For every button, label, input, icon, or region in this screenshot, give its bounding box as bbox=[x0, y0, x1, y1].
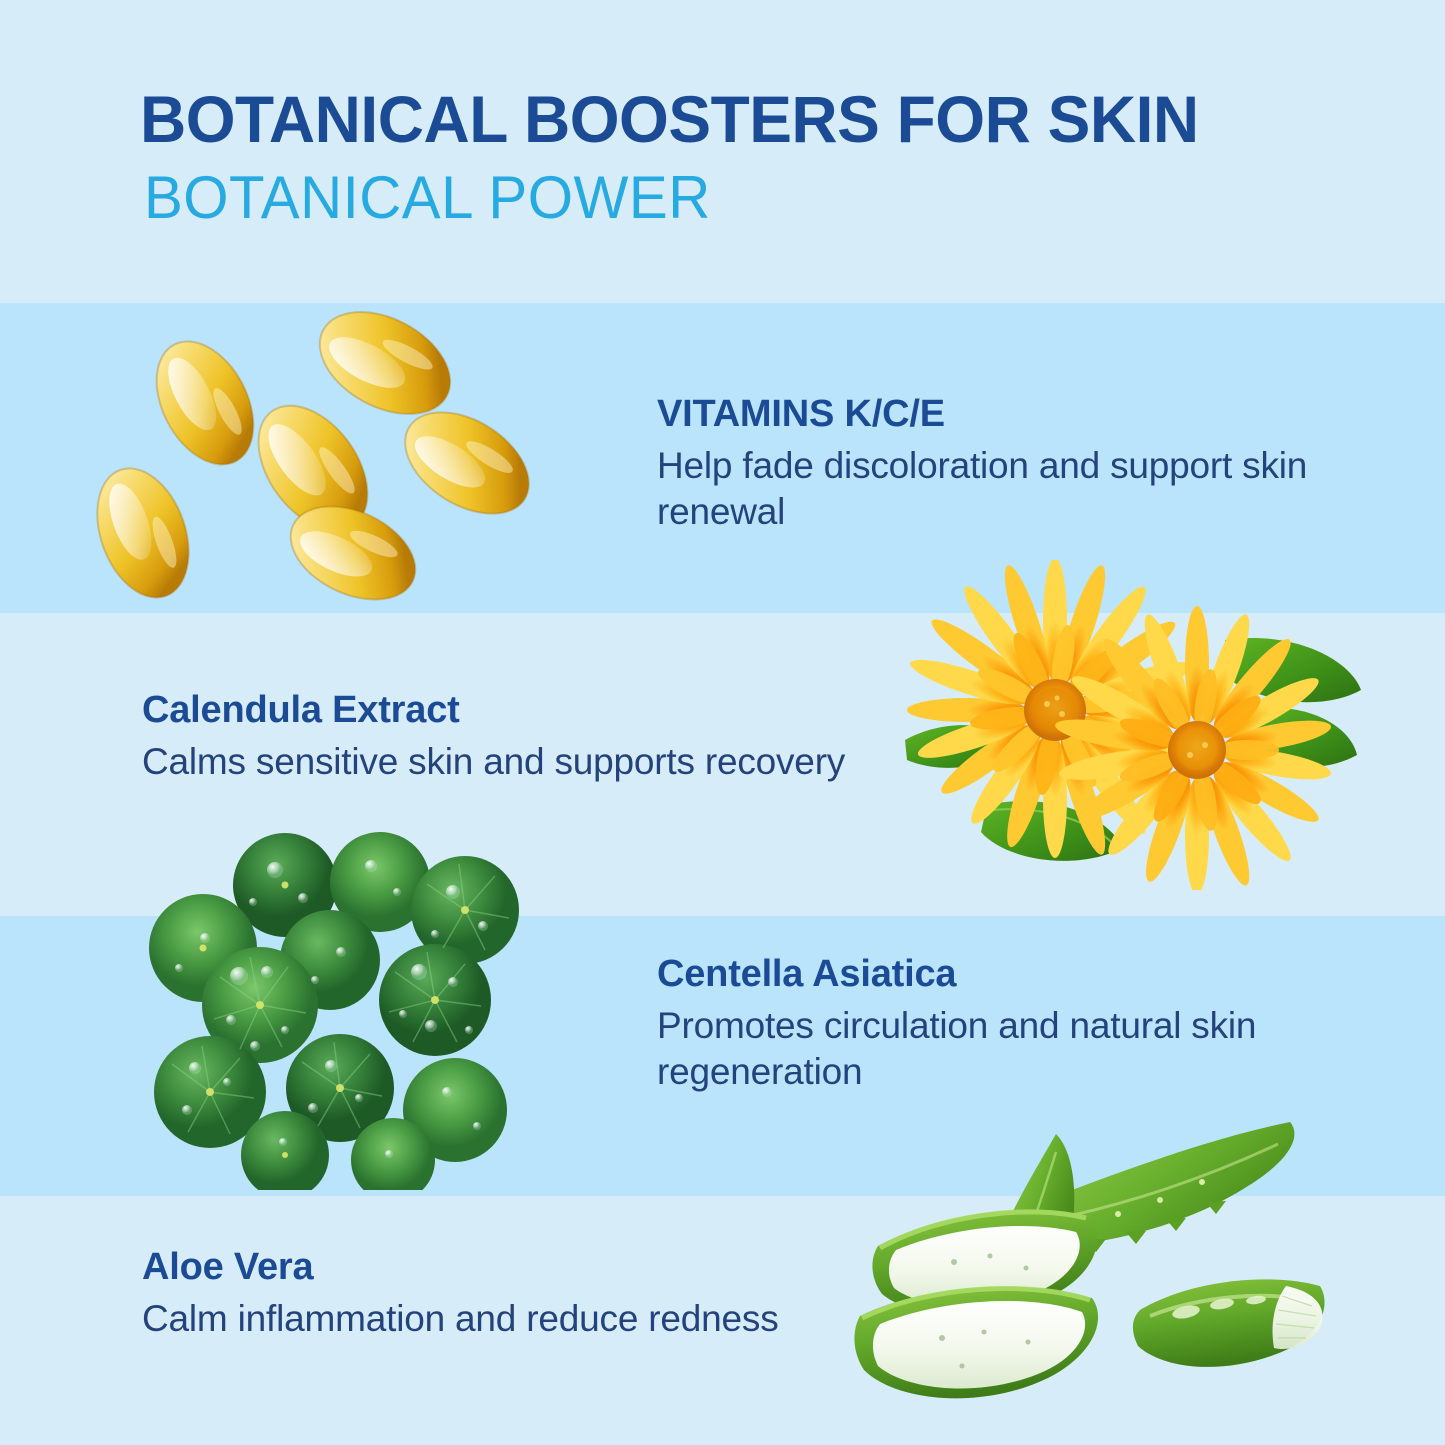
page-title: BOTANICAL BOOSTERS FOR SKIN bbox=[140, 86, 1304, 153]
ingredient-body: Help fade discoloration and support skin… bbox=[657, 443, 1317, 536]
ingredient-body: Calms sensitive skin and supports recove… bbox=[142, 739, 932, 786]
ingredient-block-vitamins: VITAMINS K/C/E Help fade discoloration a… bbox=[657, 392, 1317, 536]
ingredient-body: Calm inflammation and reduce redness bbox=[142, 1296, 882, 1343]
infographic-poster: BOTANICAL BOOSTERS FOR SKIN BOTANICAL PO… bbox=[0, 0, 1445, 1445]
softgel-capsules-image bbox=[85, 308, 605, 608]
ingredient-body: Promotes circulation and natural skin re… bbox=[657, 1003, 1277, 1096]
ingredient-block-centella: Centella Asiatica Promotes circulation a… bbox=[657, 952, 1277, 1096]
ingredient-heading: Calendula Extract bbox=[142, 688, 932, 733]
page-subtitle: BOTANICAL POWER bbox=[144, 167, 1304, 228]
ingredient-block-aloe: Aloe Vera Calm inflammation and reduce r… bbox=[142, 1245, 882, 1342]
ingredient-block-calendula: Calendula Extract Calms sensitive skin a… bbox=[142, 688, 932, 785]
aloe-vera-image bbox=[850, 1120, 1350, 1420]
ingredient-heading: Aloe Vera bbox=[142, 1245, 882, 1290]
ingredient-heading: VITAMINS K/C/E bbox=[657, 392, 1317, 437]
ingredient-heading: Centella Asiatica bbox=[657, 952, 1277, 997]
centella-leaves-image bbox=[135, 830, 555, 1190]
header: BOTANICAL BOOSTERS FOR SKIN BOTANICAL PO… bbox=[140, 86, 1340, 229]
calendula-flowers-image bbox=[895, 560, 1365, 890]
